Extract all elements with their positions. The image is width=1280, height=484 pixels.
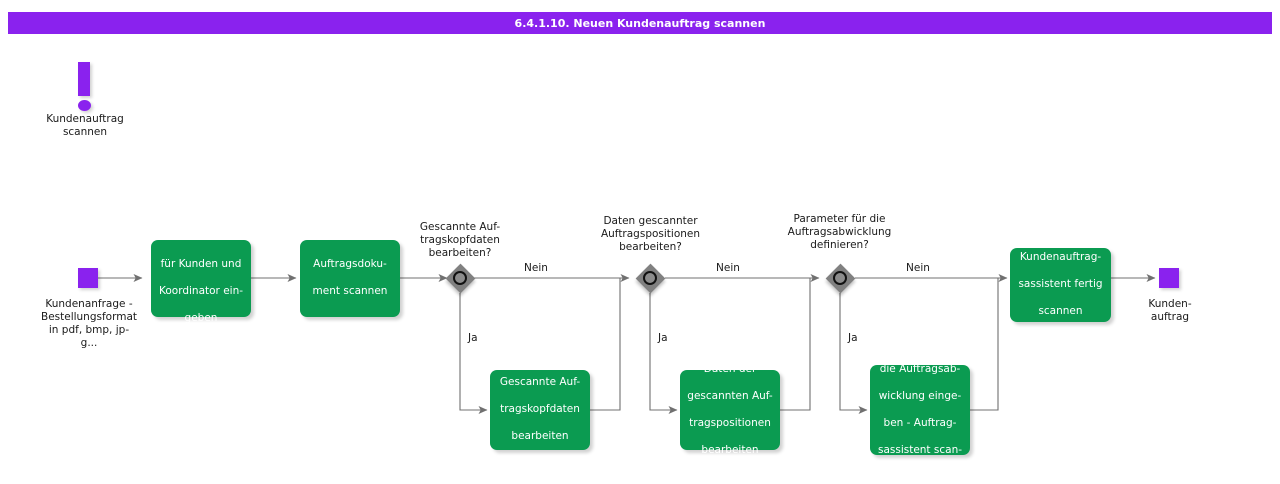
gateway-question-line: Gescannte Auf- bbox=[390, 221, 530, 234]
gateway-positionen-question: Daten gescannter Auftragspositionen bear… bbox=[578, 215, 723, 254]
task-line: sassistent fertig bbox=[1014, 278, 1107, 292]
diagram-title-bar: 6.4.1.10. Neuen Kundenauftrag scannen bbox=[8, 12, 1272, 34]
task-line: Daten der bbox=[684, 363, 776, 377]
task-auftragsdokument-scannen[interactable]: Auftragsdoku- ment scannen bbox=[300, 240, 400, 317]
edge-gateway2-ja-to-positionen-task bbox=[650, 293, 677, 410]
task-line: tragskopfdaten bbox=[494, 403, 586, 417]
task-line: geben bbox=[155, 312, 247, 326]
annotation-label-line2: scannen bbox=[24, 126, 146, 139]
edge-parameter-task-to-final-task bbox=[970, 278, 998, 410]
edge-label-gateway2-ja: Ja bbox=[658, 332, 668, 344]
gateway-kopfdaten-question: Gescannte Auf- tragskopfdaten bearbeiten… bbox=[390, 221, 530, 260]
task-line: Koordinator ein- bbox=[155, 285, 247, 299]
gateway-parameter-question: Parameter für die Auftragsabwicklung def… bbox=[767, 213, 912, 252]
edge-kopfdaten-task-to-gateway2 bbox=[590, 278, 620, 410]
task-line: ment scannen bbox=[304, 285, 396, 299]
task-line: Gescannte Auf- bbox=[494, 376, 586, 390]
annotation-label: Kundenauftrag scannen bbox=[24, 113, 146, 139]
gateway-question-line: bearbeiten? bbox=[578, 241, 723, 254]
start-label-line4: g... bbox=[14, 337, 164, 350]
task-line: nen bbox=[874, 471, 966, 484]
gateway-question-line: Daten gescannter bbox=[578, 215, 723, 228]
task-line: sassistent scan- bbox=[874, 444, 966, 458]
page-title: 6.4.1.10. Neuen Kundenauftrag scannen bbox=[515, 17, 766, 30]
gateway-question-line: Auftragspositionen bbox=[578, 228, 723, 241]
end-data-object[interactable] bbox=[1159, 268, 1179, 288]
start-node-label: Kundenanfrage - Bestellungsformat in pdf… bbox=[14, 298, 164, 350]
edge-label-gateway1-nein: Nein bbox=[524, 262, 548, 274]
start-label-line2: Bestellungsformat bbox=[14, 311, 164, 324]
gateway-question-line: Auftragsabwicklung bbox=[767, 226, 912, 239]
task-line: tragspositionen bbox=[684, 417, 776, 431]
exclamation-icon bbox=[78, 62, 92, 112]
edge-label-gateway1-ja: Ja bbox=[468, 332, 478, 344]
task-line: wicklung einge- bbox=[874, 390, 966, 404]
start-label-line3: in pdf, bmp, jp- bbox=[14, 324, 164, 337]
end-label-line2: auftrag bbox=[1124, 311, 1216, 324]
exclamation-dot bbox=[78, 100, 91, 111]
task-line: bearbeiten bbox=[684, 444, 776, 458]
task-line: gescannten Auf- bbox=[684, 390, 776, 404]
task-line: die Auftragsab- bbox=[874, 363, 966, 377]
gateway-question-line: tragskopfdaten bbox=[390, 234, 530, 247]
task-scan-standort[interactable]: Scan Standort für Kunden und Koordinator… bbox=[151, 240, 251, 317]
start-label-line1: Kundenanfrage - bbox=[14, 298, 164, 311]
task-parameter-auftragsabwicklung[interactable]: Parameter für die Auftragsab- wicklung e… bbox=[870, 365, 970, 455]
start-data-object[interactable] bbox=[78, 268, 98, 288]
end-node-label: Kunden- auftrag bbox=[1124, 298, 1216, 324]
task-line: bearbeiten bbox=[494, 430, 586, 444]
task-line: Parameter für bbox=[874, 336, 966, 350]
edge-positionen-task-to-gateway3 bbox=[780, 278, 810, 410]
edge-gateway3-ja-to-parameter-task bbox=[840, 293, 867, 410]
task-line: ben - Auftrag- bbox=[874, 417, 966, 431]
gateway-inclusive-circle-icon bbox=[643, 271, 657, 285]
edge-gateway1-ja-to-kopfdaten-task bbox=[460, 293, 487, 410]
gateway-parameter[interactable] bbox=[825, 263, 855, 293]
edge-label-gateway3-nein: Nein bbox=[906, 262, 930, 274]
gateway-inclusive-circle-icon bbox=[833, 271, 847, 285]
task-line: für Kunden und bbox=[155, 258, 247, 272]
edge-label-gateway3-ja: Ja bbox=[848, 332, 858, 344]
end-label-line1: Kunden- bbox=[1124, 298, 1216, 311]
gateway-question-line: definieren? bbox=[767, 239, 912, 252]
edge-label-gateway2-nein: Nein bbox=[716, 262, 740, 274]
task-line: scannen bbox=[1014, 305, 1107, 319]
gateway-kopfdaten[interactable] bbox=[445, 263, 475, 293]
task-gescannte-auftragskopfdaten-bearbeiten[interactable]: Gescannte Auf- tragskopfdaten bearbeiten bbox=[490, 370, 590, 450]
task-line: Kundenauftrag- bbox=[1014, 251, 1107, 265]
task-line: Scan Standort bbox=[155, 231, 247, 245]
annotation-label-line1: Kundenauftrag bbox=[24, 113, 146, 126]
gateway-question-line: Parameter für die bbox=[767, 213, 912, 226]
gateway-positionen[interactable] bbox=[635, 263, 665, 293]
diagram-canvas: 6.4.1.10. Neuen Kundenauftrag scannen bbox=[0, 0, 1280, 460]
task-line: Auftragsdoku- bbox=[304, 258, 396, 272]
task-kundenauftragsassistent-fertig-scannen[interactable]: Kundenauftrag- sassistent fertig scannen bbox=[1010, 248, 1111, 322]
exclamation-bar bbox=[78, 62, 90, 96]
task-daten-auftragspositionen-bearbeiten[interactable]: Daten der gescannten Auf- tragspositione… bbox=[680, 370, 780, 450]
gateway-question-line: bearbeiten? bbox=[390, 247, 530, 260]
gateway-inclusive-circle-icon bbox=[453, 271, 467, 285]
